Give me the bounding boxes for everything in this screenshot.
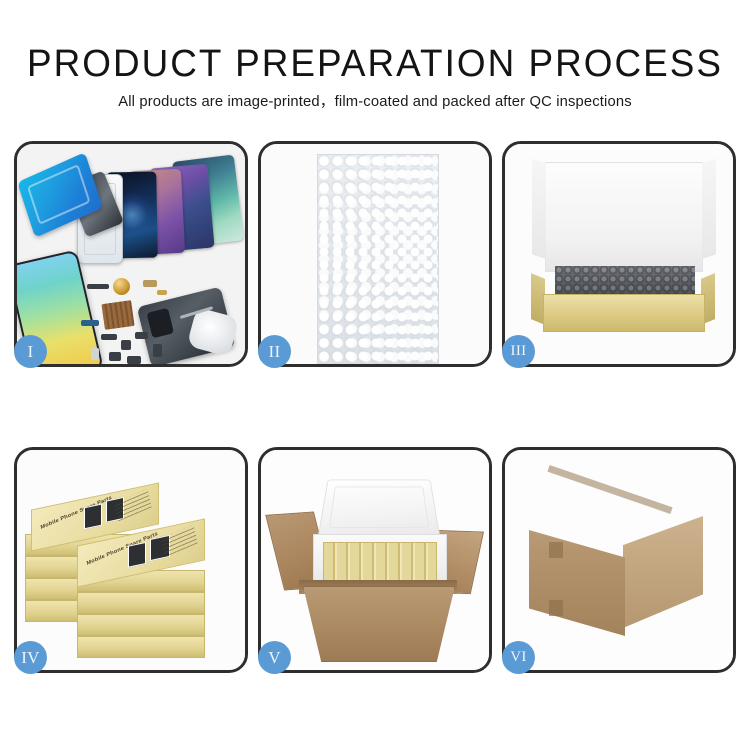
panel-6-image (505, 450, 733, 670)
foam-lid-icon (545, 162, 703, 272)
part-flex-icon (81, 320, 99, 326)
process-step-panel-4: Mobile Phone Spare Parts Mobile Phone Sp… (14, 447, 248, 673)
carton-front-face-icon (529, 530, 625, 636)
process-step-panel-3: III (502, 141, 736, 367)
step-badge-2: II (258, 335, 291, 368)
part-small-5-icon (109, 352, 121, 361)
speaker-module-icon (113, 278, 130, 295)
part-small-2-icon (121, 340, 131, 350)
step-badge-1: I (14, 335, 47, 368)
product-preparation-infographic: PRODUCT PREPARATION PROCESS All products… (0, 0, 750, 750)
part-small-6-icon (127, 356, 141, 364)
box-stack: Mobile Phone Spare Parts Mobile Phone Sp… (25, 474, 241, 660)
panel-5-image (261, 450, 489, 670)
stack-box-front-2 (77, 592, 205, 614)
box-swatch-rear-1 (84, 504, 102, 530)
sealed-carton-scene (505, 450, 733, 670)
process-step-panel-2: II (258, 141, 492, 367)
foam-lid-open-icon (318, 480, 441, 538)
step-badge-4: IV (14, 641, 47, 674)
stack-box-front-4 (77, 636, 205, 658)
box-swatch-front-1 (128, 542, 146, 568)
stacked-boxes-scene: Mobile Phone Spare Parts Mobile Phone Sp… (17, 450, 245, 670)
grey-foam-padding-icon (555, 266, 695, 296)
box-front-panel-icon (543, 294, 705, 332)
open-foam-box-scene (505, 144, 733, 364)
box-text-lines-front (160, 525, 197, 558)
part-small-4-icon (91, 348, 99, 360)
process-step-panel-5: V (258, 447, 492, 673)
bubble-wrap-scene (261, 144, 489, 364)
part-small-7-icon (153, 344, 162, 357)
part-connector-icon (157, 290, 167, 295)
carton-body-icon (303, 586, 455, 662)
part-gold-icon (143, 280, 157, 287)
stack-box-front-3 (77, 614, 205, 636)
step-badge-5: V (258, 641, 291, 674)
panel-2-image (261, 144, 489, 364)
panel-4-image: Mobile Phone Spare Parts Mobile Phone Sp… (17, 450, 245, 670)
process-steps-grid: I II (14, 141, 736, 673)
part-small-1-icon (101, 334, 117, 340)
step-badge-3: III (502, 335, 535, 368)
logic-board-icon (101, 300, 134, 330)
panel-1-image (17, 144, 245, 364)
process-step-panel-1: I (14, 141, 248, 367)
phone-parts-scene (17, 144, 245, 364)
bubble-highlight-overlay (317, 154, 437, 364)
panel-3-image (505, 144, 733, 364)
step-badge-6: VI (502, 641, 535, 674)
retail-boxes-inside-icon (323, 542, 437, 584)
part-strip-icon (87, 284, 109, 289)
part-small-3-icon (135, 332, 148, 339)
carton-tape-lower-icon (549, 600, 563, 616)
carton-with-foam-scene (261, 450, 489, 670)
box-text-lines-rear (114, 489, 151, 522)
page-title: PRODUCT PREPARATION PROCESS (11, 0, 739, 84)
page-subtitle: All products are image-printed，film-coat… (6, 84, 745, 111)
process-step-panel-6: VI (502, 447, 736, 673)
carton-tape-upper-icon (549, 542, 563, 558)
header: PRODUCT PREPARATION PROCESS All products… (0, 0, 750, 111)
